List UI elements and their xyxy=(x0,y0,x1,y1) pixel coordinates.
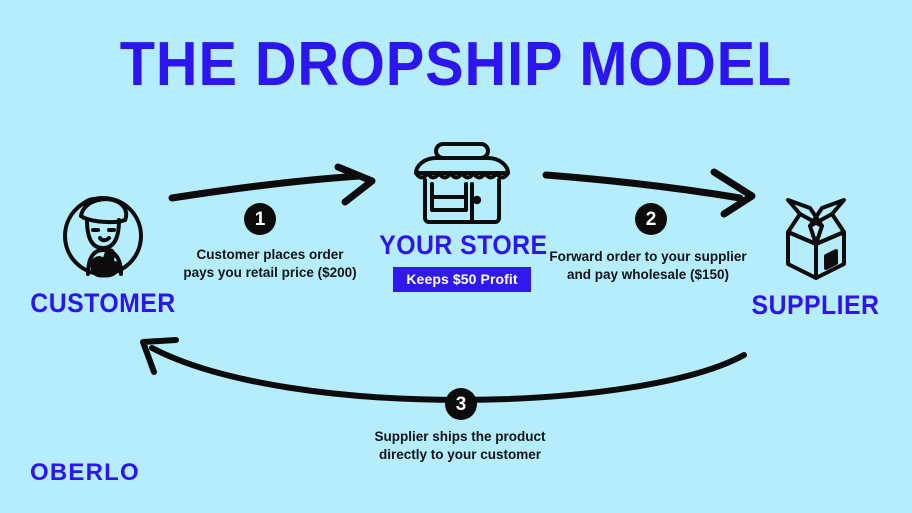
customer-avatar-thumbs-up-icon xyxy=(55,186,151,282)
node-store: YOUR STORE Keeps $50 Profit xyxy=(372,140,552,292)
supplier-label: SUPPLIER xyxy=(735,292,896,319)
arrow-supplier-to-customer-icon xyxy=(143,340,744,400)
step-bullet-3: 3 xyxy=(445,388,477,420)
step-2-line-1: Forward order to your supplier xyxy=(542,248,754,266)
node-supplier: SUPPLIER xyxy=(728,188,903,319)
storefront-icon xyxy=(410,140,514,226)
step-1-line-2: pays you retail price ($200) xyxy=(170,264,370,282)
step-bullet-2: 2 xyxy=(635,203,667,235)
profit-badge: Keeps $50 Profit xyxy=(393,267,530,292)
store-label: YOUR STORE xyxy=(379,232,545,259)
oberlo-logo: OBERLO xyxy=(30,461,140,485)
arrow-customer-to-store-icon xyxy=(172,167,372,202)
step-2-line-2: and pay wholesale ($150) xyxy=(542,266,754,284)
step-2-text: Forward order to your supplier and pay w… xyxy=(542,248,754,284)
open-box-icon xyxy=(766,188,866,284)
customer-icon-wrap xyxy=(18,186,188,282)
infographic-canvas: THE DROPSHIP MODEL xyxy=(0,0,912,513)
step-3-line-1: Supplier ships the product xyxy=(352,428,568,446)
step-3-text: Supplier ships the product directly to y… xyxy=(352,428,568,464)
store-icon-wrap xyxy=(372,140,552,226)
customer-label: CUSTOMER xyxy=(25,290,181,317)
supplier-icon-wrap xyxy=(728,188,903,284)
node-customer: CUSTOMER xyxy=(18,186,188,317)
step-1-line-1: Customer places order xyxy=(170,246,370,264)
step-1-text: Customer places order pays you retail pr… xyxy=(170,246,370,282)
page-title: THE DROPSHIP MODEL xyxy=(32,34,880,96)
step-3-line-2: directly to your customer xyxy=(352,446,568,464)
step-bullet-1: 1 xyxy=(244,203,276,235)
